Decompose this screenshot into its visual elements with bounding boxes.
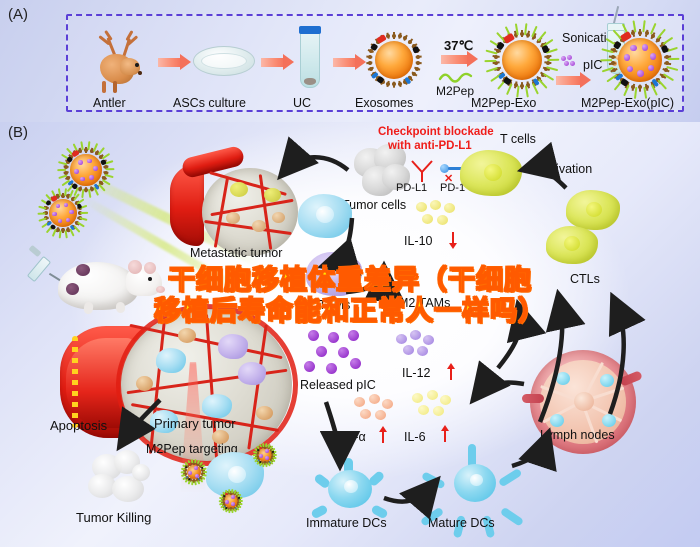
label-antler: Antler [93, 96, 126, 110]
figure-root: (A) 37℃ [0, 0, 700, 547]
m2pep-strand [486, 67, 498, 72]
arrow-m2tam-to-m1tam [346, 274, 384, 292]
panel-b: Metastatic tumor Tumor cells Checkpoint … [0, 122, 700, 547]
label-m2pep-exo-pic: M2Pep-Exo(pIC) [581, 96, 674, 110]
label-uc: UC [293, 96, 311, 110]
lipid-head [415, 67, 419, 71]
arrow-lymph-to-ctls-2 [610, 304, 624, 414]
label-exosomes: Exosomes [355, 96, 413, 110]
lipid-head [664, 68, 668, 72]
lipid-head [526, 33, 530, 37]
lipid-head [392, 34, 396, 38]
arrow-pic-to-immaturedc [326, 402, 340, 458]
pic-cargo-dot [624, 54, 630, 60]
panel-a: (A) 37℃ [0, 0, 700, 122]
lipid-head [398, 82, 402, 86]
surface-marker [661, 44, 670, 53]
arrow-culture-to-uc [261, 58, 285, 67]
arrow-sonication-to-pic [556, 76, 582, 85]
lipid-head [546, 61, 550, 65]
lipid-head [386, 82, 390, 86]
arrow-activation-to-tcells [530, 168, 566, 188]
exosome-core [375, 41, 413, 79]
arrow-exosome-to-m2pepexo [441, 55, 469, 64]
arrow-tumor-to-apoptosis [124, 400, 160, 440]
lipid-head [368, 55, 372, 59]
lipid-head [416, 61, 420, 65]
arrow-lymph-to-ctls [540, 302, 562, 422]
arrow-immature-to-mature-dc [384, 486, 432, 502]
panel-b-letter: (B) [8, 124, 28, 141]
m2pep-strand [548, 58, 560, 60]
m2pep-strand [658, 80, 667, 90]
m2pep-peptide-icon [438, 70, 478, 84]
arrow-tumorcells-to-metastatic [286, 157, 348, 170]
label-ascs-culture: ASCs culture [173, 96, 246, 110]
lipid-head [368, 61, 372, 65]
m2pep-exosome-particle [488, 26, 556, 94]
exosome-core [502, 40, 543, 81]
arrow-maturedc-to-lymph [512, 440, 546, 466]
lipid-head [392, 82, 396, 86]
lipid-head [408, 40, 412, 44]
antler-deer-illustration [86, 18, 156, 90]
exosome-particle [362, 28, 426, 92]
uc-tube-illustration [300, 32, 322, 88]
arrow-il12-to-ctls [498, 312, 521, 368]
lipid-head [403, 36, 407, 40]
m2pep-exo-pic-particle [604, 24, 676, 96]
arrow-antler-to-culture [158, 58, 182, 67]
lipid-head [398, 34, 402, 38]
lipid-head [416, 55, 420, 59]
arrow-uc-to-exosomes [333, 58, 357, 67]
surface-marker [412, 46, 420, 54]
m2pep-strand [662, 37, 673, 45]
panel-a-letter: (A) [8, 6, 28, 23]
lipid-head [611, 55, 615, 59]
pic-cargo-dot [648, 65, 654, 71]
m2pep-strand [484, 60, 496, 62]
lipid-head [638, 85, 642, 89]
pic-cargo-dot [650, 53, 656, 59]
label-m2pep-exo: M2Pep-Exo [471, 96, 536, 110]
lipid-head [412, 72, 416, 76]
lipid-head [494, 55, 498, 59]
pic-cargo-dot [637, 70, 643, 76]
arrow-tumorcells-to-m2tam [330, 218, 352, 264]
lipid-head [520, 84, 524, 88]
m2pep-label: M2Pep [436, 84, 474, 98]
lipid-head [369, 67, 373, 71]
arrow-lymph-to-cytokines [478, 382, 524, 394]
flow-arrows-layer [0, 122, 700, 547]
pic-dots-icon [560, 55, 582, 69]
petri-dish-illustration [193, 46, 255, 76]
m2pep-strand [538, 31, 547, 41]
lipid-head [611, 61, 615, 65]
m2pep-strand [539, 79, 548, 89]
